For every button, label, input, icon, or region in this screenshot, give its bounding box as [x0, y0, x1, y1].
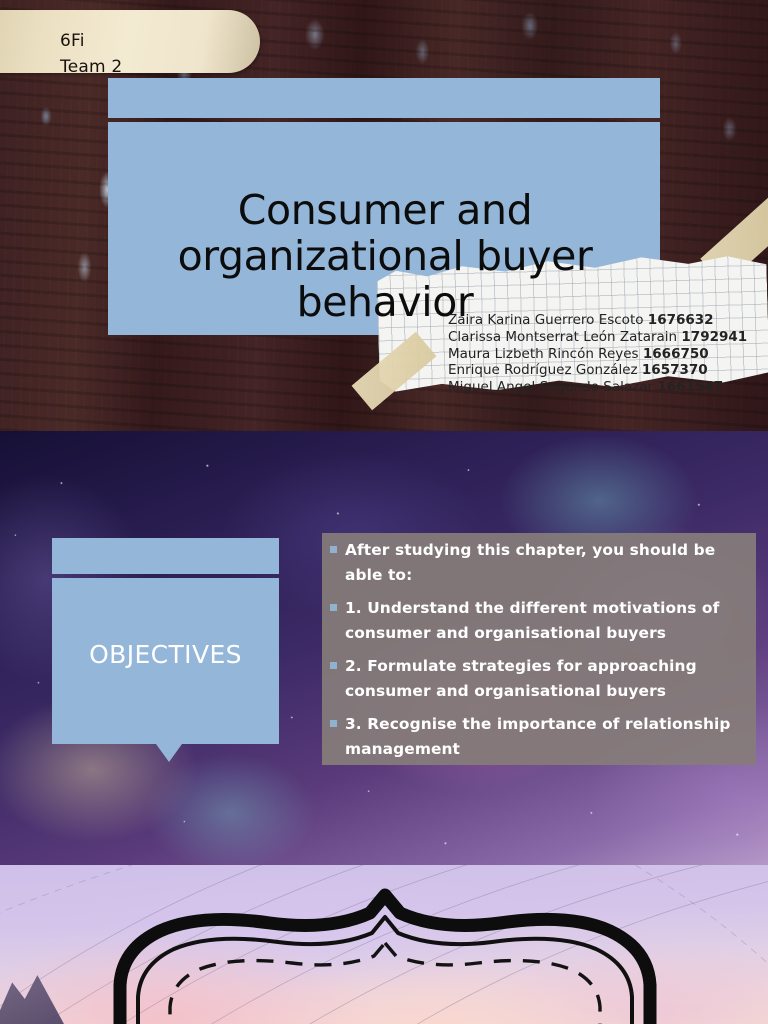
author-list: Zaira Karina Guerrero Escoto 1676632Clar… — [448, 312, 768, 396]
objective-bullet: 1. Understand the different motivations … — [324, 596, 754, 646]
objective-bullet: 2. Formulate strategies for approaching … — [324, 654, 754, 704]
author-id: 1676632 — [648, 312, 714, 328]
course-code: 6Fi — [60, 28, 280, 54]
author-id: 1657370 — [642, 362, 708, 378]
author-id: 1792941 — [681, 329, 747, 345]
author-name: Zaira Karina Guerrero Escoto — [448, 312, 648, 328]
author-row: Maura Lizbeth Rincón Reyes 1666750 — [448, 346, 768, 363]
objective-bullet-text: 3. Recognise the importance of relations… — [345, 712, 754, 762]
bullet-square-icon — [330, 662, 337, 669]
author-name: Miguel Angel Segundo Salazar — [448, 379, 657, 395]
objectives-heading: OBJECTIVES — [52, 640, 279, 669]
author-name: Clarissa Montserrat León Zatarain — [448, 329, 681, 345]
presentation-title: Consumer and organizational buyer behavi… — [118, 187, 652, 325]
bullet-square-icon — [330, 720, 337, 727]
objectives-card-top-strip — [52, 538, 279, 574]
bullet-square-icon — [330, 546, 337, 553]
author-row: Clarissa Montserrat León Zatarain 179294… — [448, 329, 768, 346]
objective-bullet-text: After studying this chapter, you should … — [345, 538, 754, 588]
author-row: Zaira Karina Guerrero Escoto 1676632 — [448, 312, 768, 329]
author-id: 1661547 — [657, 379, 723, 395]
objective-bullet: After studying this chapter, you should … — [324, 538, 754, 588]
slide-title: 6Fi Team 2 Consumer and organizational b… — [0, 0, 768, 431]
objective-bullet-text: 2. Formulate strategies for approaching … — [345, 654, 754, 704]
author-name: Maura Lizbeth Rincón Reyes — [448, 346, 643, 362]
tape-label: 6Fi Team 2 — [60, 28, 280, 80]
author-name: Enrique Rodríguez González — [448, 362, 642, 378]
author-row: Miguel Angel Segundo Salazar 1661547 — [448, 379, 768, 396]
title-card-top-strip — [108, 78, 660, 118]
objective-bullet-text: 1. Understand the different motivations … — [345, 596, 754, 646]
slide-deck: 6Fi Team 2 Consumer and organizational b… — [0, 0, 768, 1024]
author-id: 1666750 — [643, 346, 709, 362]
objectives-bullet-list: After studying this chapter, you should … — [324, 538, 754, 770]
bullet-square-icon — [330, 604, 337, 611]
speech-bubble-tail-icon — [156, 744, 182, 762]
ornate-frame-decoration — [0, 865, 768, 1024]
team-name: Team 2 — [60, 54, 280, 80]
slide-section-differences: 3.1 DIFFERENCES BETWEEN — [0, 865, 768, 1024]
objective-bullet: 3. Recognise the importance of relations… — [324, 712, 754, 762]
author-row: Enrique Rodríguez González 1657370 — [448, 362, 768, 379]
